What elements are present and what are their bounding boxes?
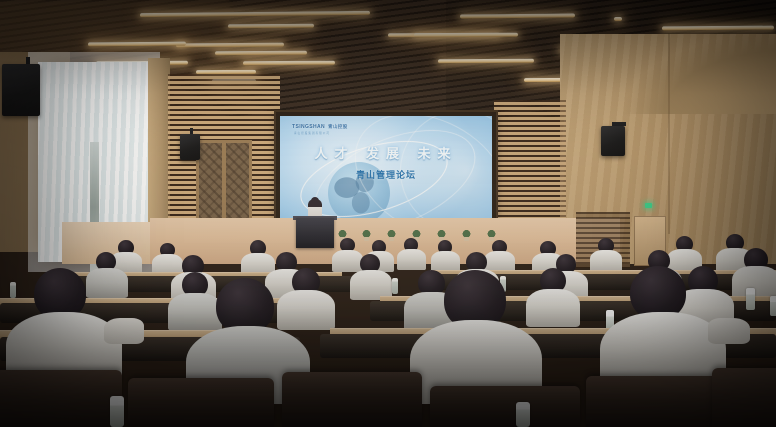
ceiling-light-fixture [243,61,335,65]
potted-plant-icon [362,230,371,241]
audience-body [86,268,128,298]
loudspeaker-icon [601,126,625,156]
right-wall-seam [668,34,670,234]
audience-body [332,250,363,272]
audience-body [590,250,622,272]
ceiling-light-fixture [176,43,284,48]
audience-body [168,293,222,331]
water-bottle-icon [516,402,530,427]
foreground-chair [282,372,422,427]
water-bottle-icon [392,278,398,294]
foreground-chair [0,370,122,427]
foreground-chair [128,378,274,427]
water-bottle-icon [10,282,16,298]
exit-sign-icon [645,203,652,208]
audience-body [277,290,335,330]
water-bottle-icon [746,288,755,310]
foreground-arm [708,318,750,344]
foreground-arm [104,318,144,344]
loudspeaker-icon [180,134,200,160]
logo-latin-text: TSINGSHAN [292,124,325,130]
foreground-chair [586,376,732,427]
ceiling-light-fixture [228,24,314,29]
slide-subtitle: 青山管理论坛 [280,168,492,181]
potted-plant-icon [387,230,396,241]
ceiling-light-fixture [88,42,186,47]
audience-body [431,251,460,272]
ceiling-light-fixture [215,51,307,55]
water-bottle-icon [110,396,124,427]
loudspeaker-icon [2,64,40,116]
conference-hall-photo: TSINGSHAN 青山控股 青山控股集团有限公司 人才 发展 未来 青山管理论… [0,0,776,427]
audience-body [526,289,580,327]
podium [296,218,334,248]
potted-plant-icon [487,230,496,241]
water-bottle-icon [770,296,776,316]
ceiling-light-fixture [414,33,518,38]
potted-plant-icon [462,230,471,241]
right-wall-curve [556,24,776,114]
foreground-chair [712,368,776,427]
foreground-chair [430,386,580,427]
ceiling-light-fixture [614,17,622,21]
logo-chinese-text: 青山控股 [328,124,348,130]
ceiling-light-fixture [438,59,534,64]
screen-light-glow [382,116,492,218]
audience-body [397,249,426,270]
logo-subline: 青山控股集团有限公司 [294,131,330,135]
tsingshan-logo: TSINGSHAN 青山控股 [292,124,348,130]
slide-headline: 人才 发展 未来 [280,143,492,162]
